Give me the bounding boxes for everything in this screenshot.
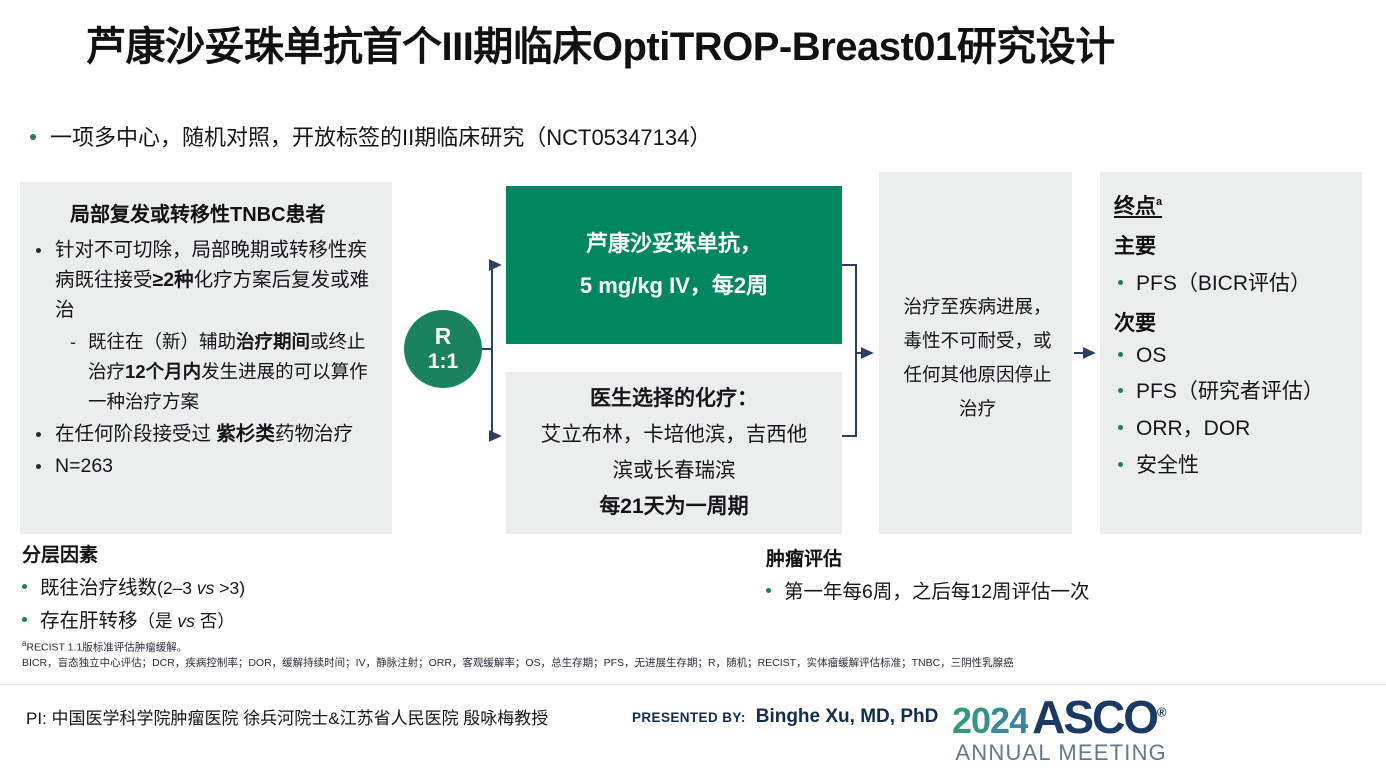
- endpoint-secondary-item: ORR，DOR: [1118, 412, 1350, 442]
- population-criterion: -既往在（新）辅助治疗期间或终止治疗12个月内发生进展的可以算作一种治疗方案: [70, 327, 378, 417]
- tumor-assessment-item-text: 第一年每6周，之后每12周评估一次: [784, 575, 1090, 604]
- bullet-dot-icon: [1118, 462, 1123, 467]
- presenter-name: Binghe Xu, MD, PhD: [756, 706, 939, 728]
- bullet-dot-icon: [1118, 425, 1123, 430]
- randomization-ratio: 1:1: [428, 350, 458, 374]
- treatment-duration-line: 毒性不可耐受，或: [890, 324, 1065, 358]
- endpoints-secondary-list: OSPFS（研究者评估）ORR，DOR安全性: [1114, 344, 1350, 479]
- population-criterion: 针对不可切除，局部晚期或转移性疾病既往接受≥2种化疗方案后复发或难治: [36, 235, 378, 325]
- tumor-assessment-item: 第一年每6周，之后每12周评估一次: [766, 575, 1090, 604]
- treatment-duration-text: 治疗至疾病进展，毒性不可耐受，或任何其他原因停止治疗: [890, 290, 1065, 426]
- footnote-line-1: aRECIST 1.1版标准评估肿瘤缓解。: [22, 636, 1272, 656]
- endpoints-panel: 终点a 主要 PFS（BICR评估） 次要 OSPFS（研究者评估）ORR，DO…: [1100, 172, 1362, 534]
- study-subtitle-text: 一项多中心，随机对照，开放标签的II期临床研究（NCT05347134）: [50, 120, 711, 152]
- endpoint-secondary-item: OS: [1118, 344, 1350, 368]
- asco-logo: 2024 ASCO® ANNUAL MEETING: [952, 690, 1167, 766]
- population-criterion: N=263: [36, 451, 378, 481]
- bullet-dot-icon: [36, 464, 41, 469]
- randomization-letter: R: [435, 324, 452, 350]
- dash-bullet-icon: -: [70, 327, 76, 417]
- bullet-dot-icon: [1118, 352, 1123, 357]
- endpoints-primary-list: PFS（BICR评估）: [1114, 267, 1350, 297]
- presented-by-block: PRESENTED BY: Binghe Xu, MD, PhD: [632, 706, 938, 728]
- control-arm-box: 医生选择的化疗： 艾立布林，卡培他滨，吉西他 滨或长春瑞滨 每21天为一周期: [506, 372, 842, 534]
- presented-by-label: PRESENTED BY:: [632, 710, 746, 725]
- experimental-arm-box: 芦康沙妥珠单抗， 5 mg/kg IV，每2周: [506, 186, 842, 344]
- endpoints-title: 终点a: [1114, 190, 1162, 220]
- treatment-duration-line: 治疗至疾病进展，: [890, 290, 1065, 324]
- endpoints-secondary-label: 次要: [1114, 307, 1350, 337]
- control-arm-cycle: 每21天为一周期: [599, 489, 748, 525]
- control-arm-drugs-line2: 滨或长春瑞滨: [613, 453, 736, 489]
- bullet-dot-icon: [1118, 388, 1123, 393]
- endpoint-primary-item-text: PFS（BICR评估）: [1136, 267, 1311, 297]
- tumor-assessment-block: 肿瘤评估 第一年每6周，之后每12周评估一次: [766, 544, 1090, 608]
- endpoint-primary-item: PFS（BICR评估）: [1118, 267, 1350, 297]
- bullet-dot-icon: [36, 432, 41, 437]
- endpoint-secondary-item-text: 安全性: [1136, 449, 1199, 479]
- stratification-heading: 分层因素: [22, 540, 245, 567]
- endpoint-secondary-item: PFS（研究者评估）: [1118, 375, 1350, 405]
- experimental-arm-drug: 芦康沙妥珠单抗，: [586, 223, 762, 265]
- endpoint-secondary-item-text: OS: [1136, 344, 1166, 368]
- page-title: 芦康沙妥珠单抗首个III期临床OptiTROP-Breast01研究设计: [86, 14, 1115, 72]
- footer-divider: [0, 684, 1386, 685]
- stratification-block: 分层因素 既往治疗线数(2–3 vs >3)存在肝转移（是 vs 否）: [22, 540, 245, 637]
- study-subtitle: 一项多中心，随机对照，开放标签的II期临床研究（NCT05347134）: [30, 120, 711, 152]
- population-criterion-text: 在任何阶段接受过 紫杉类药物治疗: [55, 419, 353, 449]
- endpoint-secondary-item-text: ORR，DOR: [1136, 412, 1250, 442]
- population-criterion: 在任何阶段接受过 紫杉类药物治疗: [36, 419, 378, 449]
- treatment-duration-line: 治疗: [890, 392, 1065, 426]
- stratification-item: 存在肝转移（是 vs 否）: [22, 604, 245, 633]
- population-heading: 局部复发或转移性TNBC患者: [70, 198, 378, 227]
- bullet-dot-icon: [22, 617, 27, 622]
- bullet-dot-icon: [30, 134, 36, 140]
- asco-logo-brand: ASCO®: [1032, 690, 1165, 744]
- bullet-dot-icon: [22, 584, 27, 589]
- footnote-line-2: BICR，盲态独立中心评估；DCR，疾病控制率；DOR，缓解持续时间；IV，静脉…: [22, 656, 1272, 671]
- population-criterion-text: 针对不可切除，局部晚期或转移性疾病既往接受≥2种化疗方案后复发或难治: [55, 235, 378, 325]
- bullet-dot-icon: [36, 248, 41, 253]
- stratification-item-text: 存在肝转移（是 vs 否）: [40, 604, 235, 633]
- population-criteria-list: 针对不可切除，局部晚期或转移性疾病既往接受≥2种化疗方案后复发或难治-既往在（新…: [34, 235, 378, 481]
- asco-logo-tagline: ANNUAL MEETING: [952, 740, 1167, 766]
- endpoint-secondary-item-text: PFS（研究者评估）: [1136, 375, 1324, 405]
- stratification-item-text: 既往治疗线数(2–3 vs >3): [40, 571, 245, 600]
- stratification-item: 既往治疗线数(2–3 vs >3): [22, 571, 245, 600]
- population-panel: 局部复发或转移性TNBC患者 针对不可切除，局部晚期或转移性疾病既往接受≥2种化…: [20, 182, 392, 534]
- control-arm-heading: 医生选择的化疗：: [590, 381, 758, 417]
- population-criterion-text: 既往在（新）辅助治疗期间或终止治疗12个月内发生进展的可以算作一种治疗方案: [88, 327, 378, 417]
- stratification-list: 既往治疗线数(2–3 vs >3)存在肝转移（是 vs 否）: [22, 571, 245, 633]
- bullet-dot-icon: [766, 588, 771, 593]
- experimental-arm-dose: 5 mg/kg IV，每2周: [580, 265, 768, 307]
- endpoints-title-wrap: 终点a: [1114, 190, 1350, 220]
- endpoint-secondary-item: 安全性: [1118, 449, 1350, 479]
- asco-logo-top-row: 2024 ASCO®: [952, 690, 1167, 744]
- endpoints-primary-label: 主要: [1114, 230, 1350, 260]
- tumor-assessment-heading: 肿瘤评估: [766, 544, 1090, 571]
- treatment-duration-line: 任何其他原因停止: [890, 358, 1065, 392]
- footnotes-block: aRECIST 1.1版标准评估肿瘤缓解。 BICR，盲态独立中心评估；DCR，…: [22, 636, 1272, 671]
- population-criterion-text: N=263: [55, 451, 113, 481]
- bullet-dot-icon: [1118, 280, 1123, 285]
- control-arm-drugs-line1: 艾立布林，卡培他滨，吉西他: [541, 417, 808, 453]
- principal-investigator-line: PI: 中国医学科学院肿瘤医院 徐兵河院士&江苏省人民医院 殷咏梅教授: [26, 704, 548, 729]
- tumor-assessment-list: 第一年每6周，之后每12周评估一次: [766, 575, 1090, 604]
- slide-canvas: 芦康沙妥珠单抗首个III期临床OptiTROP-Breast01研究设计 一项多…: [0, 0, 1386, 780]
- randomization-circle: R 1:1: [404, 310, 482, 388]
- asco-logo-year: 2024: [952, 700, 1028, 742]
